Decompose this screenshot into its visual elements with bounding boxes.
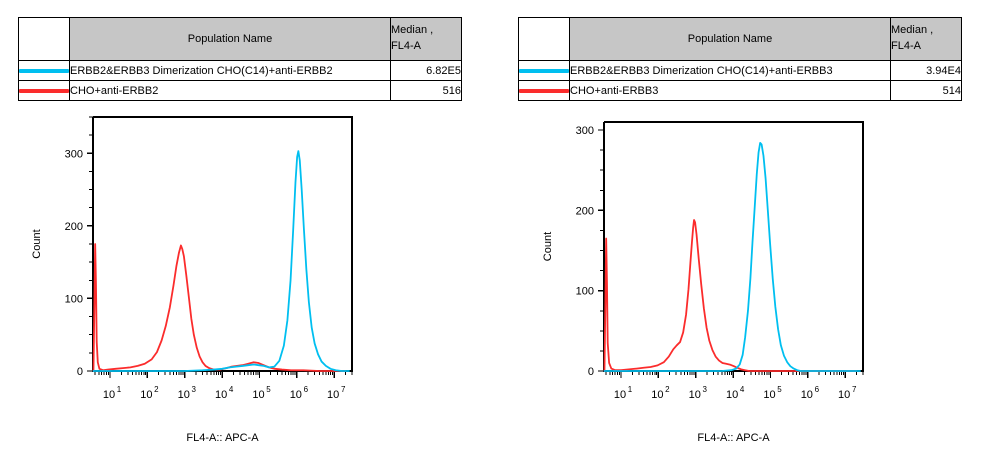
y-tick-label: 300 bbox=[576, 125, 594, 137]
header-swatch-blank bbox=[19, 18, 70, 61]
x-tick-label: 107 bbox=[838, 385, 857, 401]
header-population-name: Population Name bbox=[70, 18, 391, 61]
y-tick-label: 100 bbox=[65, 293, 83, 305]
table-row: CHO+anti-ERBB2 516 bbox=[19, 81, 462, 101]
table-row: CHO+anti-ERBB3 514 bbox=[519, 81, 962, 101]
table-row: ERBB2&ERBB3 Dimerization CHO(C14)+anti-E… bbox=[519, 61, 962, 81]
header-median-line2: FL4-A bbox=[391, 39, 461, 55]
svg-text:10: 10 bbox=[103, 389, 115, 401]
x-tick-label: 105 bbox=[252, 385, 271, 401]
svg-text:7: 7 bbox=[852, 385, 857, 394]
population-name-cell: ERBB2&ERBB3 Dimerization CHO(C14)+anti-E… bbox=[70, 61, 391, 81]
svg-text:10: 10 bbox=[290, 389, 302, 401]
svg-text:2: 2 bbox=[665, 385, 670, 394]
svg-text:10: 10 bbox=[140, 389, 152, 401]
x-tick-label: 104 bbox=[726, 385, 745, 401]
histogram-plot-erbb3: 0100200300101102103104105106107CountFL4-… bbox=[494, 112, 988, 456]
legend-color-swatch-red bbox=[19, 89, 69, 93]
x-tick-label: 107 bbox=[327, 385, 346, 401]
svg-text:10: 10 bbox=[178, 389, 190, 401]
legend-color-swatch-cyan bbox=[519, 69, 569, 73]
table-header-row: Population Name Median , FL4-A bbox=[19, 18, 462, 61]
svg-text:2: 2 bbox=[154, 385, 159, 394]
svg-text:10: 10 bbox=[651, 389, 663, 401]
x-axis-title: FL4-A:: APC-A bbox=[697, 432, 770, 444]
median-value-cell: 514 bbox=[891, 81, 962, 101]
flow-cytometry-figure: Population Name Median , FL4-A ERBB2&ERB… bbox=[0, 0, 988, 456]
x-tick-label: 102 bbox=[651, 385, 670, 401]
y-tick-label: 200 bbox=[65, 221, 83, 233]
population-name-cell: ERBB2&ERBB3 Dimerization CHO(C14)+anti-E… bbox=[570, 61, 891, 81]
population-name-cell: CHO+anti-ERBB2 bbox=[70, 81, 391, 101]
x-tick-label: 106 bbox=[801, 385, 820, 401]
histogram-svg: 0100200300101102103104105106107CountFL4-… bbox=[0, 112, 494, 456]
svg-text:1: 1 bbox=[117, 385, 122, 394]
header-population-name: Population Name bbox=[570, 18, 891, 61]
x-axis-title: FL4-A:: APC-A bbox=[186, 432, 259, 444]
table-header-row: Population Name Median , FL4-A bbox=[519, 18, 962, 61]
svg-text:10: 10 bbox=[689, 389, 701, 401]
y-tick-label: 0 bbox=[588, 366, 594, 378]
svg-text:10: 10 bbox=[801, 389, 813, 401]
histogram-plot-erbb2: 0100200300101102103104105106107CountFL4-… bbox=[0, 112, 494, 456]
population-legend-table: Population Name Median , FL4-A ERBB2&ERB… bbox=[18, 17, 462, 101]
svg-text:3: 3 bbox=[192, 385, 197, 394]
legend-swatch-cell bbox=[519, 61, 570, 81]
svg-text:10: 10 bbox=[252, 389, 264, 401]
table-row: ERBB2&ERBB3 Dimerization CHO(C14)+anti-E… bbox=[19, 61, 462, 81]
svg-text:10: 10 bbox=[838, 389, 850, 401]
x-tick-label: 104 bbox=[215, 385, 234, 401]
population-legend-table: Population Name Median , FL4-A ERBB2&ERB… bbox=[518, 17, 962, 101]
header-median: Median , FL4-A bbox=[891, 18, 962, 61]
median-value-cell: 6.82E5 bbox=[391, 61, 462, 81]
population-name-cell: CHO+anti-ERBB3 bbox=[570, 81, 891, 101]
svg-text:6: 6 bbox=[304, 385, 309, 394]
x-tick-label: 101 bbox=[614, 385, 633, 401]
svg-text:6: 6 bbox=[815, 385, 820, 394]
svg-text:3: 3 bbox=[703, 385, 708, 394]
header-median-line1: Median , bbox=[891, 23, 961, 39]
histogram-trace bbox=[604, 143, 860, 371]
histogram-trace bbox=[93, 244, 345, 371]
y-tick-label: 100 bbox=[576, 286, 594, 298]
y-axis-title: Count bbox=[542, 232, 554, 261]
header-swatch-blank bbox=[519, 18, 570, 61]
svg-text:10: 10 bbox=[614, 389, 626, 401]
x-tick-label: 102 bbox=[140, 385, 159, 401]
median-value-cell: 3.94E4 bbox=[891, 61, 962, 81]
y-tick-label: 0 bbox=[77, 366, 83, 378]
svg-text:5: 5 bbox=[777, 385, 782, 394]
y-tick-label: 200 bbox=[576, 205, 594, 217]
x-tick-label: 101 bbox=[103, 385, 122, 401]
x-tick-label: 105 bbox=[763, 385, 782, 401]
histogram-trace bbox=[93, 151, 349, 371]
svg-text:10: 10 bbox=[726, 389, 738, 401]
svg-text:10: 10 bbox=[327, 389, 339, 401]
x-tick-label: 103 bbox=[689, 385, 708, 401]
svg-text:1: 1 bbox=[628, 385, 633, 394]
legend-color-swatch-cyan bbox=[19, 69, 69, 73]
x-tick-label: 103 bbox=[178, 385, 197, 401]
header-median-line1: Median , bbox=[391, 23, 461, 39]
histogram-svg: 0100200300101102103104105106107CountFL4-… bbox=[494, 112, 988, 456]
svg-text:4: 4 bbox=[229, 385, 234, 394]
panel-erbb3: Population Name Median , FL4-A ERBB2&ERB… bbox=[494, 0, 988, 456]
svg-text:10: 10 bbox=[215, 389, 227, 401]
legend-swatch-cell bbox=[19, 81, 70, 101]
svg-text:4: 4 bbox=[740, 385, 745, 394]
legend-swatch-cell bbox=[19, 61, 70, 81]
svg-text:5: 5 bbox=[266, 385, 271, 394]
y-tick-label: 300 bbox=[65, 148, 83, 160]
legend-color-swatch-red bbox=[519, 89, 569, 93]
svg-text:10: 10 bbox=[763, 389, 775, 401]
svg-text:7: 7 bbox=[341, 385, 346, 394]
y-axis-title: Count bbox=[31, 229, 43, 258]
legend-swatch-cell bbox=[519, 81, 570, 101]
histogram-trace bbox=[604, 220, 856, 371]
x-tick-label: 106 bbox=[290, 385, 309, 401]
panel-erbb2: Population Name Median , FL4-A ERBB2&ERB… bbox=[0, 0, 494, 456]
header-median: Median , FL4-A bbox=[391, 18, 462, 61]
header-median-line2: FL4-A bbox=[891, 39, 961, 55]
median-value-cell: 516 bbox=[391, 81, 462, 101]
